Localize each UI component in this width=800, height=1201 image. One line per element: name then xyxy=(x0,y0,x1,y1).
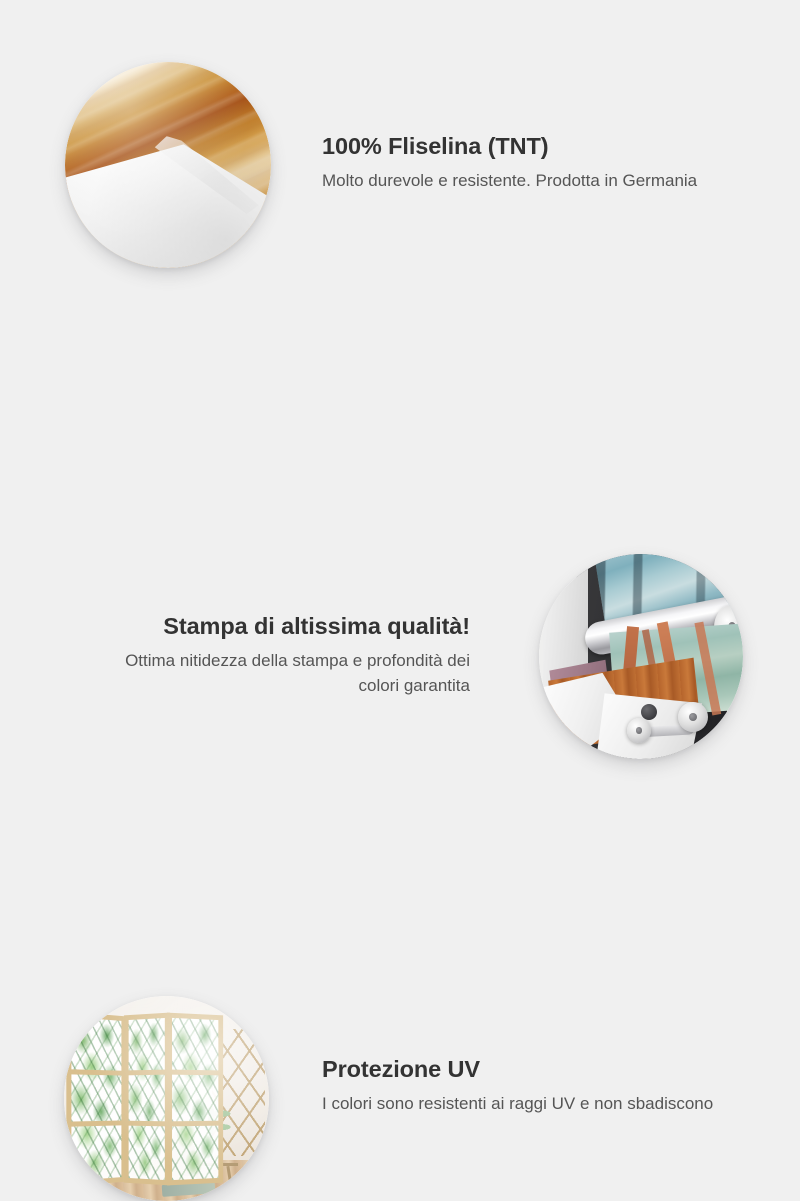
feature-fliselina: 100% Fliselina (TNT) Molto durevole e re… xyxy=(0,0,800,290)
promo-panel: 100% Fliselina (TNT) Molto durevole e re… xyxy=(0,0,800,800)
room-divider-illustration xyxy=(64,996,269,1201)
wallpaper-shading-overlay xyxy=(65,62,271,268)
uv-title: Protezione UV xyxy=(322,1055,722,1083)
feature-uv: Protezione UV I colori sono resistenti a… xyxy=(0,492,800,742)
scene-light-haze xyxy=(64,996,269,1201)
uv-description: I colori sono resistenti ai raggi UV e n… xyxy=(322,1092,722,1117)
feature-stampa: Stampa di altissima qualità! Ottima niti… xyxy=(0,272,800,504)
peeling-wallpaper-illustration xyxy=(65,62,271,268)
fliselina-text-block: 100% Fliselina (TNT) Molto durevole e re… xyxy=(322,132,722,194)
uv-text-block: Protezione UV I colori sono resistenti a… xyxy=(322,1055,722,1117)
uv-media-circle xyxy=(64,996,269,1201)
fliselina-title: 100% Fliselina (TNT) xyxy=(322,132,722,160)
interior-room-scene xyxy=(64,996,269,1201)
fliselina-description: Molto durevole e resistente. Prodotta in… xyxy=(322,169,722,194)
fliselina-media-circle xyxy=(65,62,271,268)
